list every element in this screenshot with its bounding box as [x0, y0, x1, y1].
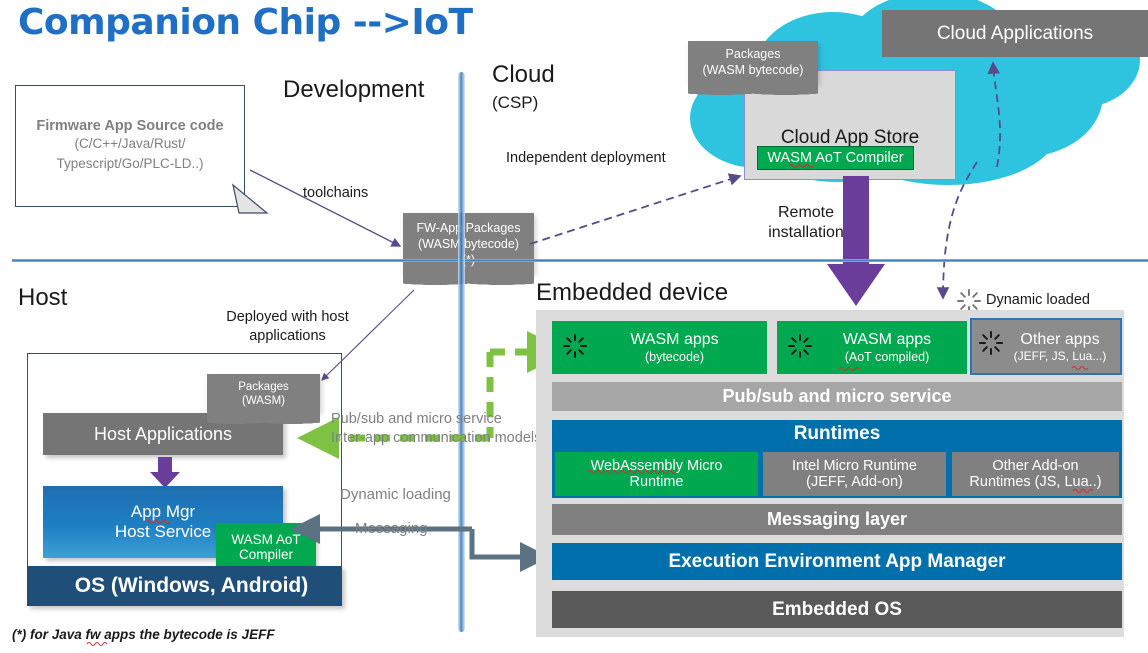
- cloud-applications-label: Cloud Applications: [937, 23, 1093, 45]
- other-apps-box[interactable]: Other apps (JEFF, JS, Lua...): [970, 318, 1122, 375]
- host-aot-compiler-box[interactable]: WASM AoT Compiler: [216, 523, 316, 570]
- wasm-apps-title: WASM apps: [630, 330, 718, 349]
- host-os-box[interactable]: OS (Windows, Android): [27, 566, 342, 606]
- other-apps-sub: (JEFF, JS, Lua...): [1014, 349, 1107, 363]
- page-title: Companion Chip -->IoT: [18, 2, 473, 43]
- wasm-apps-bytecode-box[interactable]: WASM apps (bytecode): [552, 321, 767, 374]
- wasm-apps-sub: (bytecode): [645, 350, 704, 365]
- host-heading: Host: [18, 284, 67, 312]
- firmware-source-heading: Firmware App Source code: [36, 118, 223, 134]
- dynamic-loaded-label: Dynamic loaded: [986, 292, 1090, 308]
- intel-runtime-line2: (JEFF, Add-on): [806, 474, 903, 490]
- fw-packages-line2: (WASM bytecode): [418, 236, 519, 252]
- app-mgr-label: App Mgr: [131, 502, 195, 522]
- cloud-aot-compiler-box[interactable]: WASM AoT Compiler: [757, 146, 914, 170]
- host-packages-line1: Packages: [238, 380, 289, 394]
- pubsub-bar[interactable]: Pub/sub and micro service: [552, 382, 1122, 411]
- development-heading: Development: [283, 76, 424, 104]
- host-packages-line2: (WASM): [242, 394, 285, 408]
- messaging-layer-bar[interactable]: Messaging layer: [552, 504, 1122, 535]
- embedded-device-heading: Embedded device: [536, 279, 728, 307]
- other-apps-title: Other apps: [1020, 330, 1099, 349]
- vertical-divider: [458, 72, 465, 632]
- cloud-packages-callout: Packages (WASM bytecode): [688, 41, 818, 93]
- other-addon-runtimes-box[interactable]: Other Add-on Runtimes (JS, Lua..): [952, 452, 1119, 496]
- toolchains-label: toolchains: [303, 185, 368, 201]
- embedded-os-bar[interactable]: Embedded OS: [552, 591, 1122, 628]
- host-os-label: OS (Windows, Android): [61, 574, 309, 598]
- messaging-layer-label: Messaging layer: [767, 509, 907, 530]
- cloud-subheading: (CSP): [492, 93, 538, 113]
- cloud-applications-arrow: [975, 55, 1015, 170]
- cloud-heading: Cloud: [492, 61, 555, 89]
- execution-env-label: Execution Environment App Manager: [668, 551, 1005, 573]
- host-service-label: Host Service: [115, 522, 211, 542]
- host-applications-label: Host Applications: [94, 424, 232, 445]
- webassembly-micro-runtime-box[interactable]: WebAssembly Micro Runtime: [555, 452, 758, 496]
- footnote: (*) for Java fw apps the bytecode is JEF…: [12, 627, 275, 642]
- dynamic-loading-label: Dynamic loading: [340, 486, 451, 503]
- independent-deployment-arrow: [528, 172, 758, 252]
- messaging-label: Messaging: [355, 520, 428, 537]
- intel-runtime-line1: Intel Micro Runtime: [792, 458, 917, 474]
- fw-packages-line1: FW-App Packages: [417, 220, 521, 236]
- cloud-aot-compiler-label: WASM AoT Compiler: [767, 150, 903, 166]
- wamr-line2: Runtime: [630, 474, 684, 490]
- cloud-packages-line1: Packages: [726, 47, 781, 63]
- pubsub-arrow-label: Pub/sub and micro service Inter-app comm…: [331, 410, 556, 448]
- cloud-applications-box[interactable]: Cloud Applications: [882, 10, 1148, 57]
- wamr-line1: WebAssembly Micro: [591, 458, 723, 474]
- cloud-packages-line2: (WASM bytecode): [703, 63, 804, 79]
- dynamic-loaded-arrow: [915, 160, 985, 310]
- fw-app-packages-callout: FW-App Packages (WASM bytecode) (*): [403, 213, 534, 285]
- deployed-with-host-label: Deployed with host applications: [195, 308, 380, 346]
- remote-installation-arrow: [827, 176, 891, 312]
- toolchains-arrow: [248, 168, 418, 258]
- execution-environment-app-manager-bar[interactable]: Execution Environment App Manager: [552, 543, 1122, 580]
- other-runtime-line2: Runtimes (JS, Lua..): [969, 474, 1101, 490]
- embedded-os-label: Embedded OS: [772, 599, 902, 621]
- remote-installation-label: Remote installation: [758, 203, 854, 244]
- wasm-apps-aot-title: WASM apps: [843, 330, 931, 349]
- firmware-source-code-box[interactable]: Firmware App Source code (C/C++/Java/Rus…: [15, 85, 245, 207]
- firmware-source-line1: (C/C++/Java/Rust/: [74, 134, 185, 154]
- host-packages-callout: Packages (WASM): [207, 374, 320, 422]
- wasm-apps-aot-sub: (AoT compiled): [845, 350, 930, 365]
- pubsub-label: Pub/sub and micro service: [722, 386, 951, 407]
- other-runtime-line1: Other Add-on: [992, 458, 1078, 474]
- runtimes-title: Runtimes: [794, 423, 881, 445]
- independent-deployment-label: Independent deployment: [506, 150, 666, 166]
- horizontal-divider: [12, 259, 1148, 262]
- host-aot-compiler-line2: Compiler: [239, 547, 293, 562]
- firmware-source-line2: Typescript/Go/PLC-LD..): [56, 154, 203, 174]
- slide-canvas: Companion Chip -->IoT Cloud Applications…: [0, 0, 1148, 653]
- host-aot-compiler-line1: WASM AoT: [231, 532, 300, 547]
- wasm-apps-aot-box[interactable]: WASM apps (AoT compiled): [777, 321, 967, 374]
- intel-micro-runtime-box[interactable]: Intel Micro Runtime (JEFF, Add-on): [763, 452, 946, 496]
